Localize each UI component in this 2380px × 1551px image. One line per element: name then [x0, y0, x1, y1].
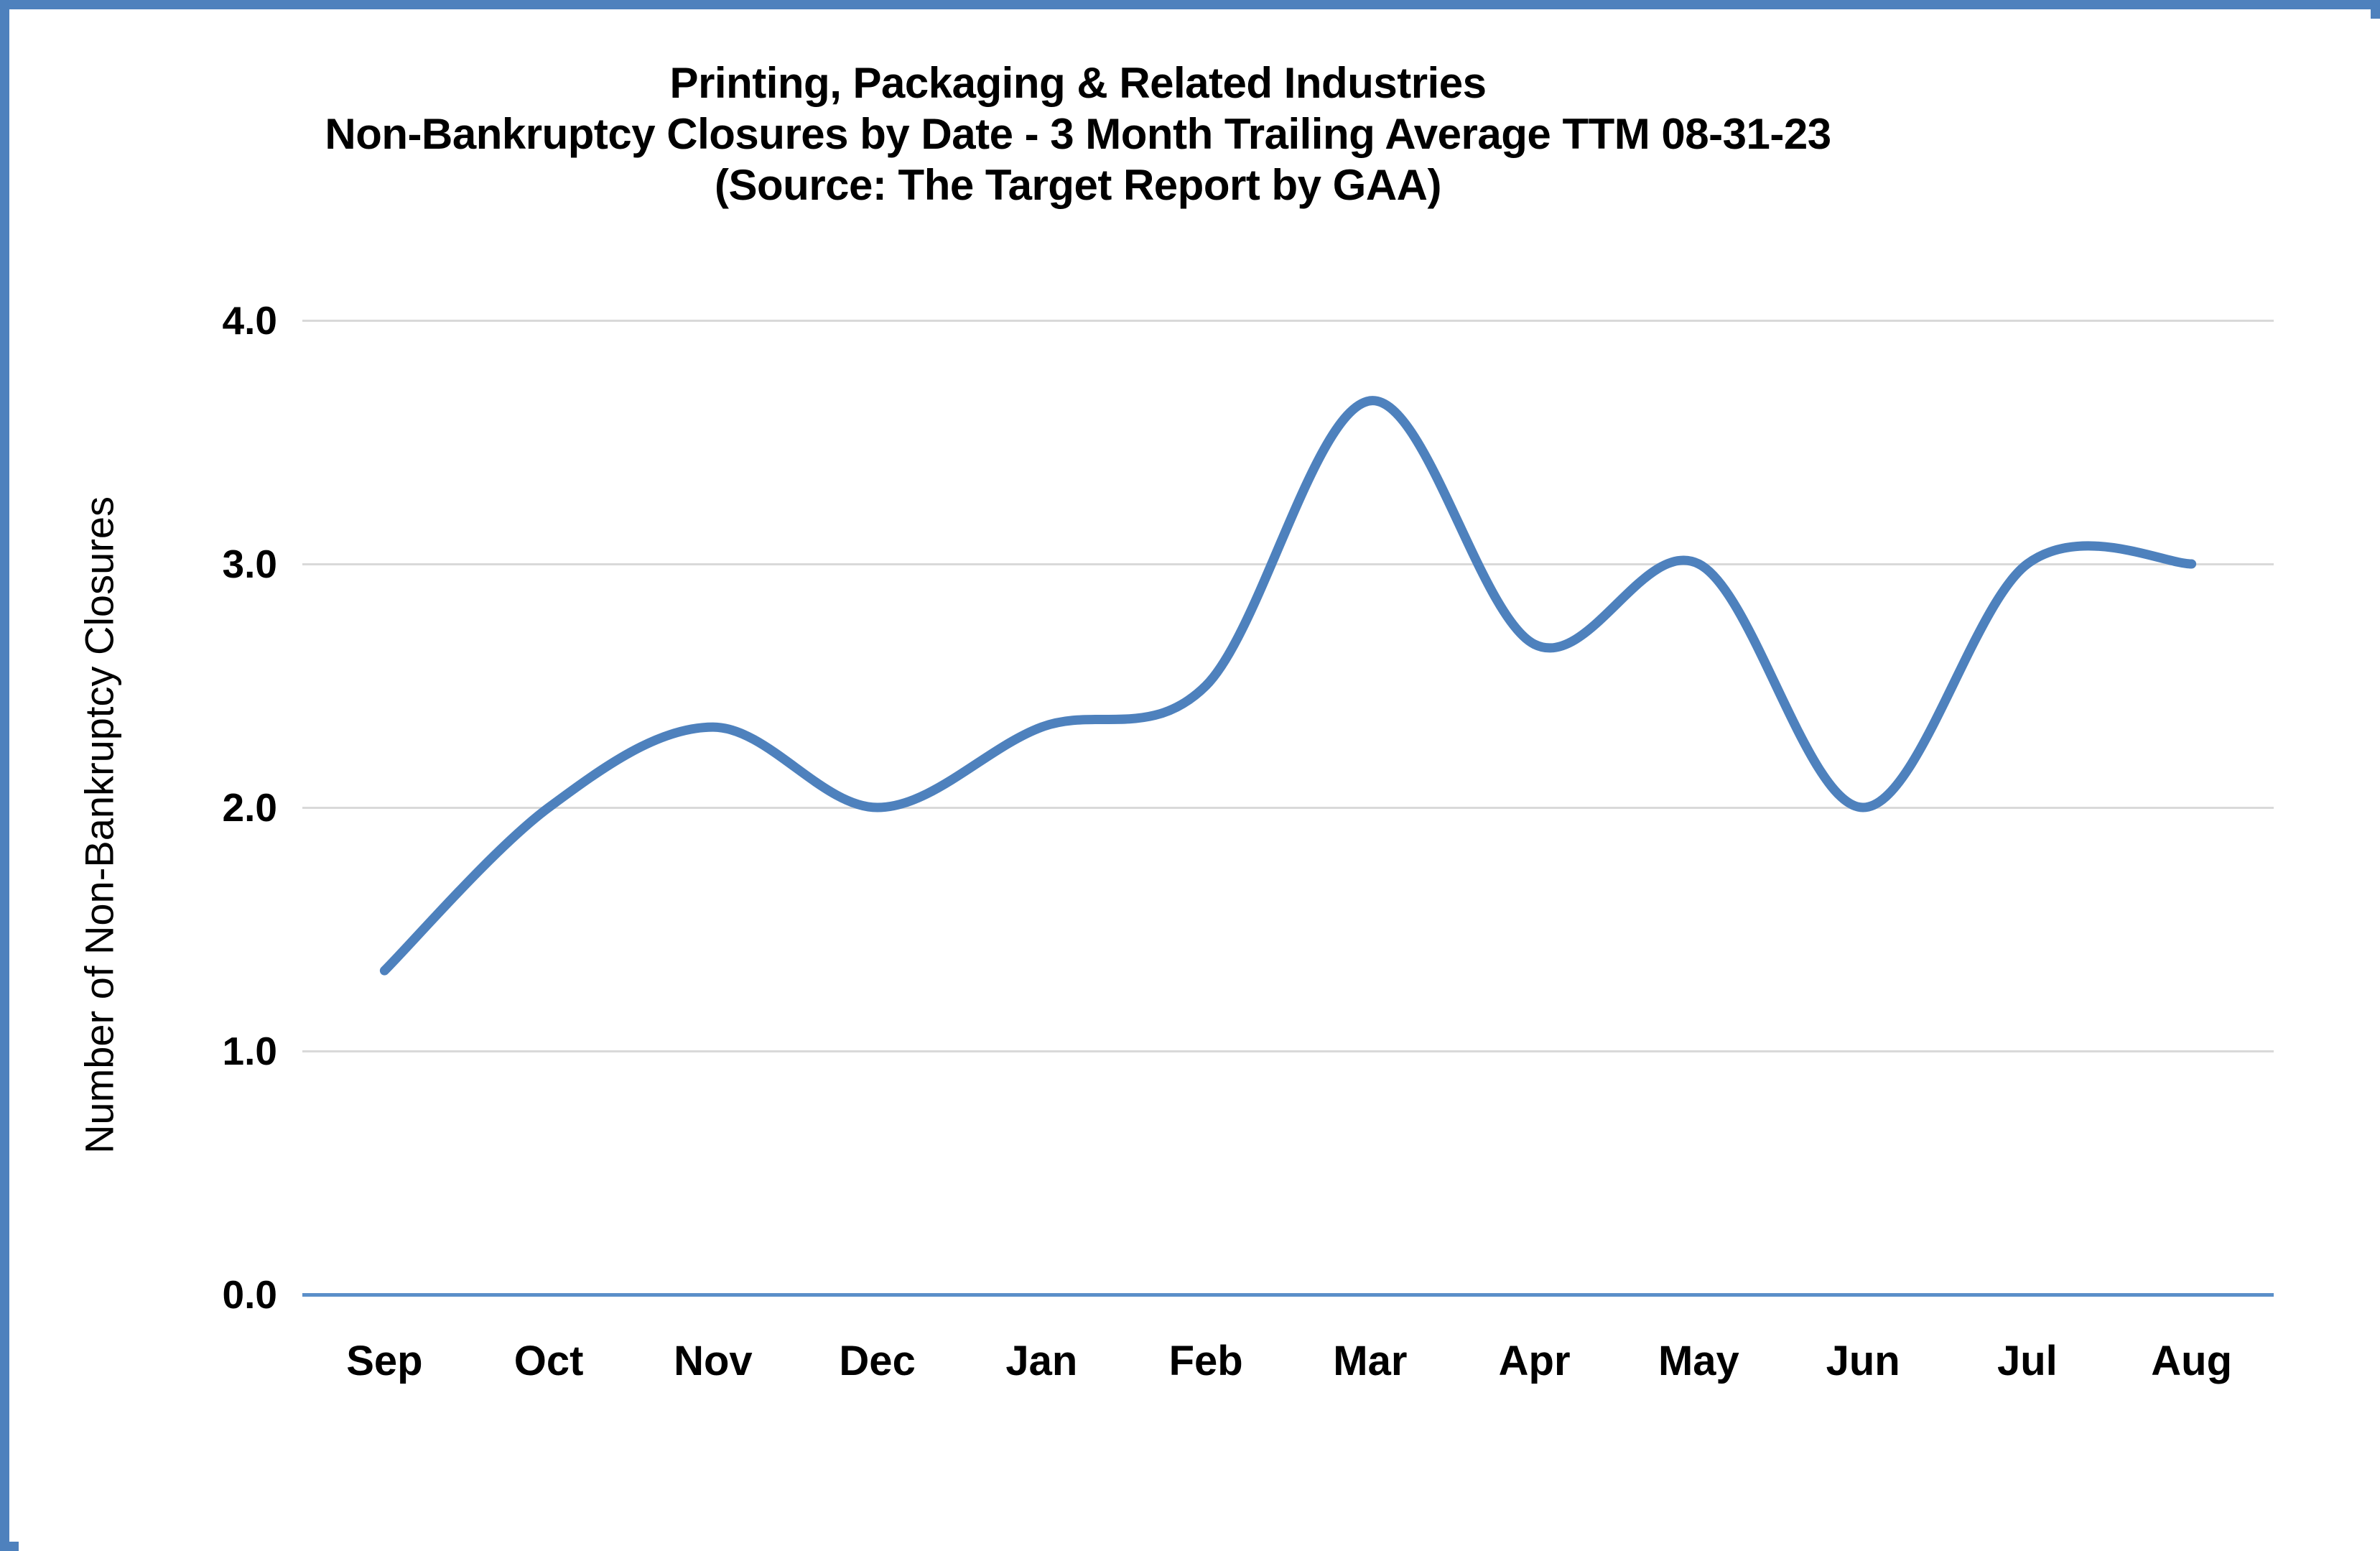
x-axis-tick-label: Oct [462, 1337, 635, 1385]
chart-plot-container: Printing, Packaging & Related Industries… [19, 19, 2380, 1551]
x-axis-tick-label: Aug [2106, 1337, 2278, 1385]
y-axis-tick-label: 4.0 [112, 297, 277, 343]
y-axis-tick-labels: 0.01.02.03.04.0 [90, 320, 277, 1295]
x-axis-tick-label: Nov [627, 1337, 799, 1385]
x-axis-tick-label: Sep [298, 1337, 470, 1385]
y-axis-tick-label: 3.0 [112, 541, 277, 587]
chart-border-frame: Printing, Packaging & Related Industries… [0, 0, 2380, 1551]
x-axis-tick-label: Dec [791, 1337, 964, 1385]
x-axis-tick-label: Jul [1941, 1337, 2114, 1385]
chart-title-line-1: Printing, Packaging & Related Industries [19, 58, 2137, 109]
chart-title-line-2: Non-Bankruptcy Closures by Date - 3 Mont… [19, 109, 2137, 160]
y-axis-tick-label: 0.0 [112, 1272, 277, 1318]
series-line-chart [302, 320, 2274, 1295]
x-axis-tick-label: Mar [1284, 1337, 1456, 1385]
x-axis-tick-label: Apr [1449, 1337, 1621, 1385]
plot-area [302, 320, 2274, 1295]
y-axis-tick-label: 1.0 [112, 1028, 277, 1074]
x-axis-tick-label: May [1612, 1337, 1785, 1385]
x-axis-tick-labels: SepOctNovDecJanFebMarAprMayJunJulAug [302, 1337, 2274, 1402]
x-axis-tick-label: Jun [1777, 1337, 1949, 1385]
x-axis-tick-label: Jan [955, 1337, 1128, 1385]
y-axis-tick-label: 2.0 [112, 784, 277, 830]
chart-title-line-3: (Source: The Target Report by GAA) [19, 160, 2137, 211]
x-axis-tick-label: Feb [1120, 1337, 1292, 1385]
chart-title: Printing, Packaging & Related Industries… [19, 58, 2137, 210]
series-line-path [384, 401, 2191, 971]
chart-page: Printing, Packaging & Related Industries… [0, 0, 2380, 1551]
